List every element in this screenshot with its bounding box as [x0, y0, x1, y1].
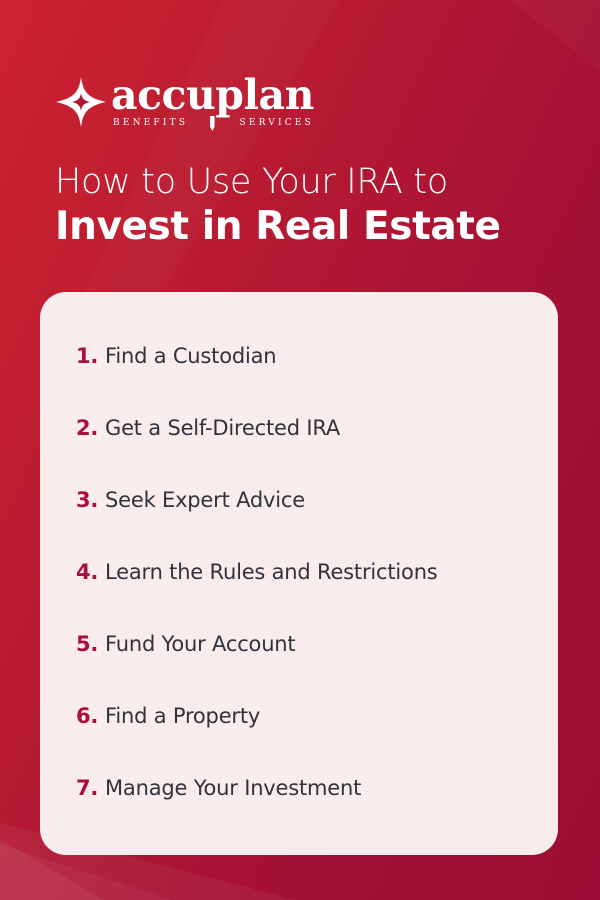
step-label: Get a Self-Directed IRA	[105, 416, 340, 440]
step-label: Learn the Rules and Restrictions	[105, 560, 438, 584]
list-item: 3. Seek Expert Advice	[76, 488, 518, 560]
page-title: How to Use Your IRA to Invest in Real Es…	[55, 162, 555, 250]
brand-name: accuplan	[111, 76, 314, 115]
background-facet-shape	[80, 0, 340, 300]
step-label: Seek Expert Advice	[105, 488, 305, 512]
step-number: 4.	[76, 560, 105, 584]
list-item: 5. Fund Your Account	[76, 632, 518, 704]
step-number: 5.	[76, 632, 105, 656]
brand-tagline-left: BENEFITS	[113, 118, 188, 128]
list-item: 2. Get a Self-Directed IRA	[76, 416, 518, 488]
steps-card: 1. Find a Custodian 2. Get a Self-Direct…	[40, 292, 558, 855]
brand-wordmark: accuplan BENEFITS SERVICES	[111, 74, 314, 131]
step-number: 7.	[76, 776, 105, 800]
step-number: 2.	[76, 416, 105, 440]
page-title-line-1: How to Use Your IRA to	[55, 162, 555, 203]
four-pointed-star-icon	[55, 76, 107, 128]
brand-tagline: BENEFITS SERVICES	[111, 116, 314, 131]
brand-logo: accuplan BENEFITS SERVICES	[55, 74, 314, 131]
steps-list: 1. Find a Custodian 2. Get a Self-Direct…	[76, 344, 518, 848]
step-label: Manage Your Investment	[105, 776, 361, 800]
list-item: 1. Find a Custodian	[76, 344, 518, 416]
shield-divider-icon	[209, 116, 216, 131]
brand-tagline-right: SERVICES	[239, 118, 313, 128]
list-item: 4. Learn the Rules and Restrictions	[76, 560, 518, 632]
page-title-line-2: Invest in Real Estate	[55, 204, 555, 250]
step-number: 3.	[76, 488, 105, 512]
step-label: Fund Your Account	[105, 632, 295, 656]
list-item: 6. Find a Property	[76, 704, 518, 776]
step-label: Find a Custodian	[105, 344, 276, 368]
step-number: 1.	[76, 344, 105, 368]
step-number: 6.	[76, 704, 105, 728]
step-label: Find a Property	[105, 704, 260, 728]
list-item: 7. Manage Your Investment	[76, 776, 518, 848]
infographic-poster: accuplan BENEFITS SERVICES How to Use Yo…	[0, 0, 600, 900]
